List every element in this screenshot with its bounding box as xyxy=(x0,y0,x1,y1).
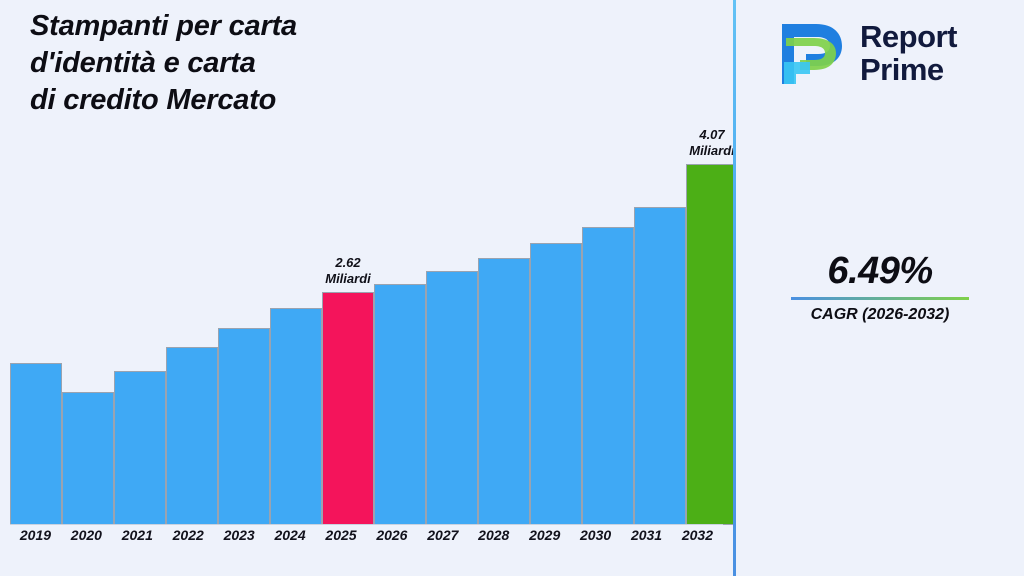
x-tick-2031: 2031 xyxy=(621,527,672,557)
bar-slot xyxy=(10,130,62,525)
screenshot-root: Stampanti per carta d'identità e carta d… xyxy=(0,0,1024,576)
bar-2031[interactable] xyxy=(634,207,686,525)
cagr-block: 6.49% CAGR (2026-2032) xyxy=(736,250,1024,324)
bar-slot xyxy=(478,130,530,525)
bar-2029[interactable] xyxy=(530,243,582,525)
report-prime-logo-icon xyxy=(776,18,850,90)
bar-2030[interactable] xyxy=(582,227,634,525)
x-axis-line xyxy=(10,524,723,525)
bar-2025[interactable] xyxy=(322,292,374,525)
bar-slot xyxy=(374,130,426,525)
bar-series: 2.62 Miliardi4.07 Miliardi xyxy=(10,130,723,525)
page-title: Stampanti per carta d'identità e carta d… xyxy=(30,8,450,119)
bar-2027[interactable] xyxy=(426,271,478,525)
x-tick-2027: 2027 xyxy=(417,527,468,557)
cagr-caption: CAGR (2026-2032) xyxy=(736,306,1024,324)
bar-slot xyxy=(114,130,166,525)
x-tick-2025: 2025 xyxy=(316,527,367,557)
brand-logo: Report Prime xyxy=(776,14,1006,94)
bar-slot xyxy=(62,130,114,525)
bar-slot xyxy=(218,130,270,525)
bar-slot xyxy=(166,130,218,525)
x-tick-2023: 2023 xyxy=(214,527,265,557)
x-axis-tick-labels: 2019202020212022202320242025202620272028… xyxy=(10,527,723,557)
bar-chart-plot: 2.62 Miliardi4.07 Miliardi xyxy=(0,130,733,525)
bar-2019[interactable] xyxy=(10,363,62,525)
cagr-divider xyxy=(791,297,969,300)
chart-panel: Stampanti per carta d'identità e carta d… xyxy=(0,0,733,576)
x-tick-2021: 2021 xyxy=(112,527,163,557)
bar-2020[interactable] xyxy=(62,392,114,525)
info-panel: Report Prime 6.49% CAGR (2026-2032) xyxy=(736,0,1024,576)
bar-slot xyxy=(634,130,686,525)
bar-slot xyxy=(426,130,478,525)
bar-2021[interactable] xyxy=(114,371,166,525)
x-tick-2026: 2026 xyxy=(366,527,417,557)
bar-2026[interactable] xyxy=(374,284,426,525)
bar-2023[interactable] xyxy=(218,328,270,525)
x-tick-2020: 2020 xyxy=(61,527,112,557)
x-tick-2024: 2024 xyxy=(265,527,316,557)
bar-slot xyxy=(530,130,582,525)
x-tick-2019: 2019 xyxy=(10,527,61,557)
x-tick-2030: 2030 xyxy=(570,527,621,557)
x-tick-2029: 2029 xyxy=(519,527,570,557)
brand-name: Report Prime xyxy=(860,20,957,86)
bar-2028[interactable] xyxy=(478,258,530,525)
x-tick-2022: 2022 xyxy=(163,527,214,557)
bar-slot: 4.07 Miliardi xyxy=(686,130,738,525)
bar-slot xyxy=(582,130,634,525)
cagr-value: 6.49% xyxy=(736,250,1024,293)
bar-2024[interactable] xyxy=(270,308,322,525)
x-tick-2028: 2028 xyxy=(468,527,519,557)
bar-slot: 2.62 Miliardi xyxy=(322,130,374,525)
bar-2032[interactable] xyxy=(686,164,738,525)
x-tick-2032: 2032 xyxy=(672,527,723,557)
bar-2022[interactable] xyxy=(166,347,218,525)
bar-slot xyxy=(270,130,322,525)
